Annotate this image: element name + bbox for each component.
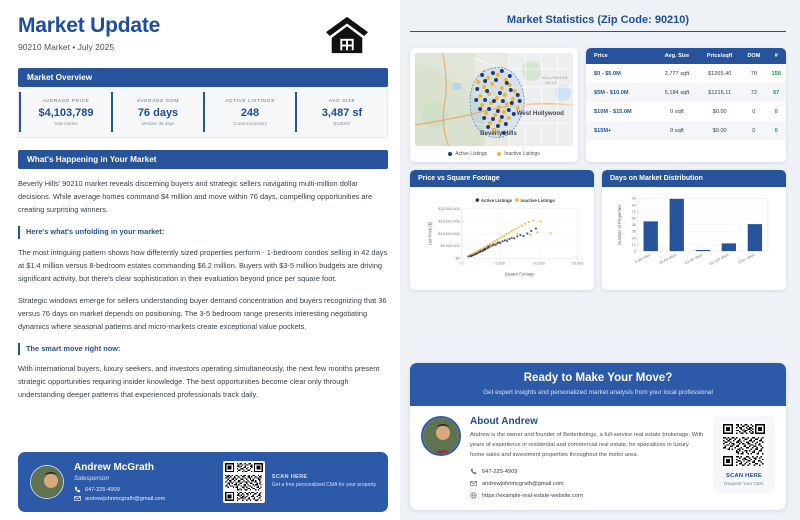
- svg-text:HOLLYWOOD: HOLLYWOOD: [541, 76, 567, 80]
- cell-dom: 0: [741, 121, 766, 140]
- bar-chart-card: Days on Market Distribution 012243648607…: [602, 170, 786, 290]
- stat-label: ACTIVE LISTINGS: [207, 99, 293, 104]
- svg-text:36: 36: [632, 229, 636, 234]
- svg-text:48: 48: [632, 222, 636, 227]
- agent-card: Andrew McGrath Salesperson 647-225-4909 …: [18, 452, 388, 512]
- stat-avg-size: AVG SIZE 3,487 sf $1284/sf: [295, 92, 387, 132]
- cell-dom: 72: [741, 83, 766, 102]
- cell-psf: $1265.40: [698, 64, 741, 83]
- cell-size: 2,777 sqft: [656, 64, 698, 83]
- bar-chart: 012243648607284960-30 days31-60 days61-9…: [607, 193, 781, 281]
- stat-note: Current inventory: [207, 121, 293, 126]
- page-subtitle: 90210 Market • July 2025: [18, 42, 160, 52]
- svg-text:Number of Properties: Number of Properties: [617, 205, 622, 245]
- svg-text:31-60 days: 31-60 days: [658, 252, 677, 265]
- page-title: Market Update: [18, 14, 160, 37]
- left-column: Market Update 90210 Market • July 2025 M…: [0, 0, 400, 520]
- legend-dot-icon: [497, 152, 501, 156]
- narrative-para-2: Strategic windows emerge for sellers und…: [18, 295, 388, 334]
- stat-value: 248: [207, 107, 293, 119]
- agent-qr-title: SCAN HERE: [272, 474, 376, 480]
- cta-subtitle: Get expert insights and personalized mar…: [420, 389, 776, 396]
- legend-dot-icon: [448, 152, 452, 156]
- cell-psf: $1216.11: [698, 83, 741, 102]
- table-row: $10M - $15.0M 0 sqft $0.00 0 0: [586, 102, 786, 121]
- svg-text:Square Footage: Square Footage: [504, 272, 535, 277]
- svg-text:96: 96: [632, 196, 636, 201]
- stat-label: AVERAGE DOM: [115, 99, 201, 104]
- map-card[interactable]: West Hollywood Beverly Hills HOLLYWOOD H…: [410, 48, 578, 162]
- agent-qr-caption: SCAN HERE Get a free personalized CMA fo…: [272, 474, 376, 490]
- agent-email-line: andrewjohnmcgrath@gmail.com: [74, 495, 213, 502]
- agent-avatar: [30, 465, 64, 499]
- svg-text:72: 72: [632, 209, 636, 214]
- agent-role: Salesperson: [74, 475, 213, 482]
- scatter-chart-title: Price vs Square Footage: [410, 170, 594, 187]
- statistics-title: Market Statistics (Zip Code: 90210): [410, 14, 786, 26]
- stat-label: AVERAGE PRICE: [23, 99, 109, 104]
- svg-text:0: 0: [634, 249, 636, 254]
- contact-list: 647-225-4909 andrewjohnmcgrath@gmail.com: [470, 468, 704, 499]
- mail-icon: [470, 480, 477, 487]
- svg-text:$15,000,000: $15,000,000: [438, 219, 459, 224]
- cell-size: 5,184 sqft: [656, 83, 698, 102]
- agent-info: Andrew McGrath Salesperson 647-225-4909 …: [74, 462, 213, 502]
- contact-website[interactable]: https://example-real-estate-website.com: [470, 492, 704, 499]
- agent-phone: 647-225-4909: [85, 487, 120, 493]
- table-row: $5M - $10.0M 5,184 sqft $1216.11 72 67: [586, 83, 786, 102]
- cta-header: Ready to Make Your Move? Get expert insi…: [410, 363, 786, 406]
- svg-text:91-120 days: 91-120 days: [708, 252, 729, 266]
- svg-text:$0: $0: [455, 256, 459, 261]
- contact-email-text: andrewjohnmcgrath@gmail.com: [482, 481, 564, 487]
- table-row: $0 - $5.0M 2,777 sqft $1265.40 70 158: [586, 64, 786, 83]
- th-price-sqft: Price/sqft: [698, 48, 741, 64]
- svg-text:84: 84: [632, 203, 637, 208]
- narrative-callout-2: The smart move right now:: [18, 343, 388, 356]
- agent-phone-line: 647-225-4909: [74, 486, 213, 493]
- svg-text:West Hollywood: West Hollywood: [517, 110, 564, 117]
- svg-text:$20,000,000: $20,000,000: [438, 207, 459, 212]
- stat-note: Sale market: [23, 121, 109, 126]
- cell-size: 0 sqft: [656, 121, 698, 140]
- svg-text:Beverly Hills: Beverly Hills: [480, 130, 517, 137]
- svg-text:10,000: 10,000: [533, 261, 545, 266]
- qr-code[interactable]: [223, 461, 265, 503]
- report-header: Market Update 90210 Market • July 2025: [18, 14, 388, 56]
- th-avg-size: Avg. Size: [656, 48, 698, 64]
- cell-price: $15M+: [586, 121, 656, 140]
- cell-price: $10M - $15.0M: [586, 102, 656, 121]
- statistics-header: Market Statistics (Zip Code: 90210): [410, 14, 786, 40]
- market-report-page: Market Update 90210 Market • July 2025 M…: [0, 0, 800, 520]
- contact-website-text: https://example-real-estate-website.com: [482, 493, 583, 499]
- svg-text:List Price ($): List Price ($): [428, 221, 433, 245]
- table-body: $0 - $5.0M 2,777 sqft $1265.40 70 158 $5…: [586, 64, 786, 140]
- cell-price: $5M - $10.0M: [586, 83, 656, 102]
- stats-row: AVERAGE PRICE $4,103,789 Sale market AVE…: [18, 87, 388, 138]
- cta-card: Ready to Make Your Move? Get expert insi…: [410, 363, 786, 510]
- agent-name: Andrew McGrath: [74, 462, 213, 473]
- svg-text:24: 24: [632, 236, 637, 241]
- globe-icon: [470, 492, 477, 499]
- qr-code[interactable]: [721, 422, 767, 468]
- narrative-callout-1: Here's what's unfolding in your market:: [18, 226, 388, 239]
- narrative-body: Beverly Hills' 90210 market reveals disc…: [18, 178, 388, 411]
- svg-text:Inactive Listings: Inactive Listings: [520, 198, 555, 203]
- stat-value: 3,487 sf: [299, 107, 385, 119]
- stat-active-listings: ACTIVE LISTINGS 248 Current inventory: [203, 92, 295, 132]
- stat-average-dom: AVERAGE DOM 76 days Median: 36 days: [111, 92, 203, 132]
- cell-price: $0 - $5.0M: [586, 64, 656, 83]
- top-cards: West Hollywood Beverly Hills HOLLYWOOD H…: [410, 48, 786, 162]
- cell-dom: 0: [741, 102, 766, 121]
- cell-psf: $0.00: [698, 121, 741, 140]
- cell-count: 158: [766, 64, 786, 83]
- svg-text:$5,000,000: $5,000,000: [440, 244, 459, 249]
- table-head: Price Avg. Size Price/sqft DOM #: [586, 48, 786, 64]
- table-row: $15M+ 0 sqft $0.00 0 0: [586, 121, 786, 140]
- cta-body: About Andrew Andrew is the owner and fou…: [410, 406, 786, 510]
- cell-count: 67: [766, 83, 786, 102]
- mail-icon: [74, 495, 81, 502]
- stat-note: Median: 36 days: [115, 121, 201, 126]
- price-band-table-card: Price Avg. Size Price/sqft DOM # $0 - $5…: [586, 48, 786, 162]
- narrative-para-3: With international buyers, luxury seeker…: [18, 363, 388, 402]
- svg-text:0-30 days: 0-30 days: [634, 252, 651, 264]
- charts-row: Price vs Square Footage Active ListingsI…: [410, 170, 786, 290]
- cell-count: 0: [766, 102, 786, 121]
- cta-qr-block[interactable]: SCAN HERE Request Your CMA: [713, 416, 775, 493]
- market-overview-band: Market Overview: [18, 68, 388, 87]
- scatter-chart-body: Active ListingsInactive Listings$0$5,000…: [410, 187, 594, 290]
- contact-phone-text: 647-225-4909: [482, 469, 517, 475]
- cta-title: Ready to Make Your Move?: [420, 372, 776, 384]
- about-title: About Andrew: [470, 416, 704, 427]
- legend-label: Active Listings: [455, 151, 487, 157]
- narrative-para-1: The most intriguing pattern shows how di…: [18, 247, 388, 286]
- map-legend: Active Listings Inactive Listings: [415, 151, 573, 157]
- bar-chart-title: Days on Market Distribution: [602, 170, 786, 187]
- agent-email: andrewjohnmcgrath@gmail.com: [85, 496, 165, 502]
- svg-text:5,000: 5,000: [495, 261, 505, 266]
- legend-label: Inactive Listings: [504, 151, 540, 157]
- stat-label: AVG SIZE: [299, 99, 385, 104]
- listings-map[interactable]: West Hollywood Beverly Hills HOLLYWOOD H…: [415, 53, 573, 146]
- agent-qr-block[interactable]: SCAN HERE Get a free personalized CMA fo…: [223, 461, 376, 503]
- about-text: Andrew is the owner and founder of Bette…: [470, 431, 704, 461]
- scatter-plot: Active ListingsInactive Listings$0$5,000…: [415, 193, 589, 281]
- svg-text:Active Listings: Active Listings: [481, 198, 513, 203]
- divider: [410, 31, 786, 32]
- svg-text:120+ days: 120+ days: [737, 252, 755, 265]
- stat-average-price: AVERAGE PRICE $4,103,789 Sale market: [19, 92, 111, 132]
- whats-happening-band: What's Happening in Your Market: [18, 150, 388, 169]
- th-dom: DOM: [741, 48, 766, 64]
- legend-active: Active Listings: [448, 151, 487, 157]
- contact-email[interactable]: andrewjohnmcgrath@gmail.com: [470, 480, 704, 487]
- cell-psf: $0.00: [698, 102, 741, 121]
- phone-icon: [470, 468, 477, 475]
- house-icon: [324, 14, 370, 56]
- cell-count: 0: [766, 121, 786, 140]
- svg-text:61-90 days: 61-90 days: [684, 252, 703, 265]
- svg-text:60: 60: [632, 216, 636, 221]
- legend-inactive: Inactive Listings: [497, 151, 540, 157]
- stat-note: $1284/sf: [299, 121, 385, 126]
- svg-text:$10,000,000: $10,000,000: [438, 231, 459, 236]
- agent-qr-text: Get a free personalized CMA for your pro…: [272, 482, 376, 490]
- phone-icon: [74, 486, 81, 493]
- th-price: Price: [586, 48, 656, 64]
- cta-qr-title: SCAN HERE: [717, 473, 771, 479]
- stat-value: 76 days: [115, 107, 201, 119]
- svg-text:15,000: 15,000: [572, 261, 584, 266]
- svg-text:0: 0: [460, 261, 462, 266]
- narrative-intro: Beverly Hills' 90210 market reveals disc…: [18, 178, 388, 217]
- svg-text:HILLS: HILLS: [545, 81, 557, 85]
- bar-chart-body: 012243648607284960-30 days31-60 days61-9…: [602, 187, 786, 290]
- scatter-chart-card: Price vs Square Footage Active ListingsI…: [410, 170, 594, 290]
- stat-value: $4,103,789: [23, 107, 109, 119]
- price-band-table: Price Avg. Size Price/sqft DOM # $0 - $5…: [586, 48, 786, 140]
- about-block: About Andrew Andrew is the owner and fou…: [470, 416, 704, 499]
- about-avatar: [421, 416, 461, 456]
- right-column: Market Statistics (Zip Code: 90210): [400, 0, 800, 520]
- cell-size: 0 sqft: [656, 102, 698, 121]
- cell-dom: 70: [741, 64, 766, 83]
- svg-text:12: 12: [632, 242, 636, 247]
- contact-phone[interactable]: 647-225-4909: [470, 468, 704, 475]
- table-header-row: Price Avg. Size Price/sqft DOM #: [586, 48, 786, 64]
- th-count: #: [766, 48, 786, 64]
- cta-qr-text: Request Your CMA: [717, 481, 771, 486]
